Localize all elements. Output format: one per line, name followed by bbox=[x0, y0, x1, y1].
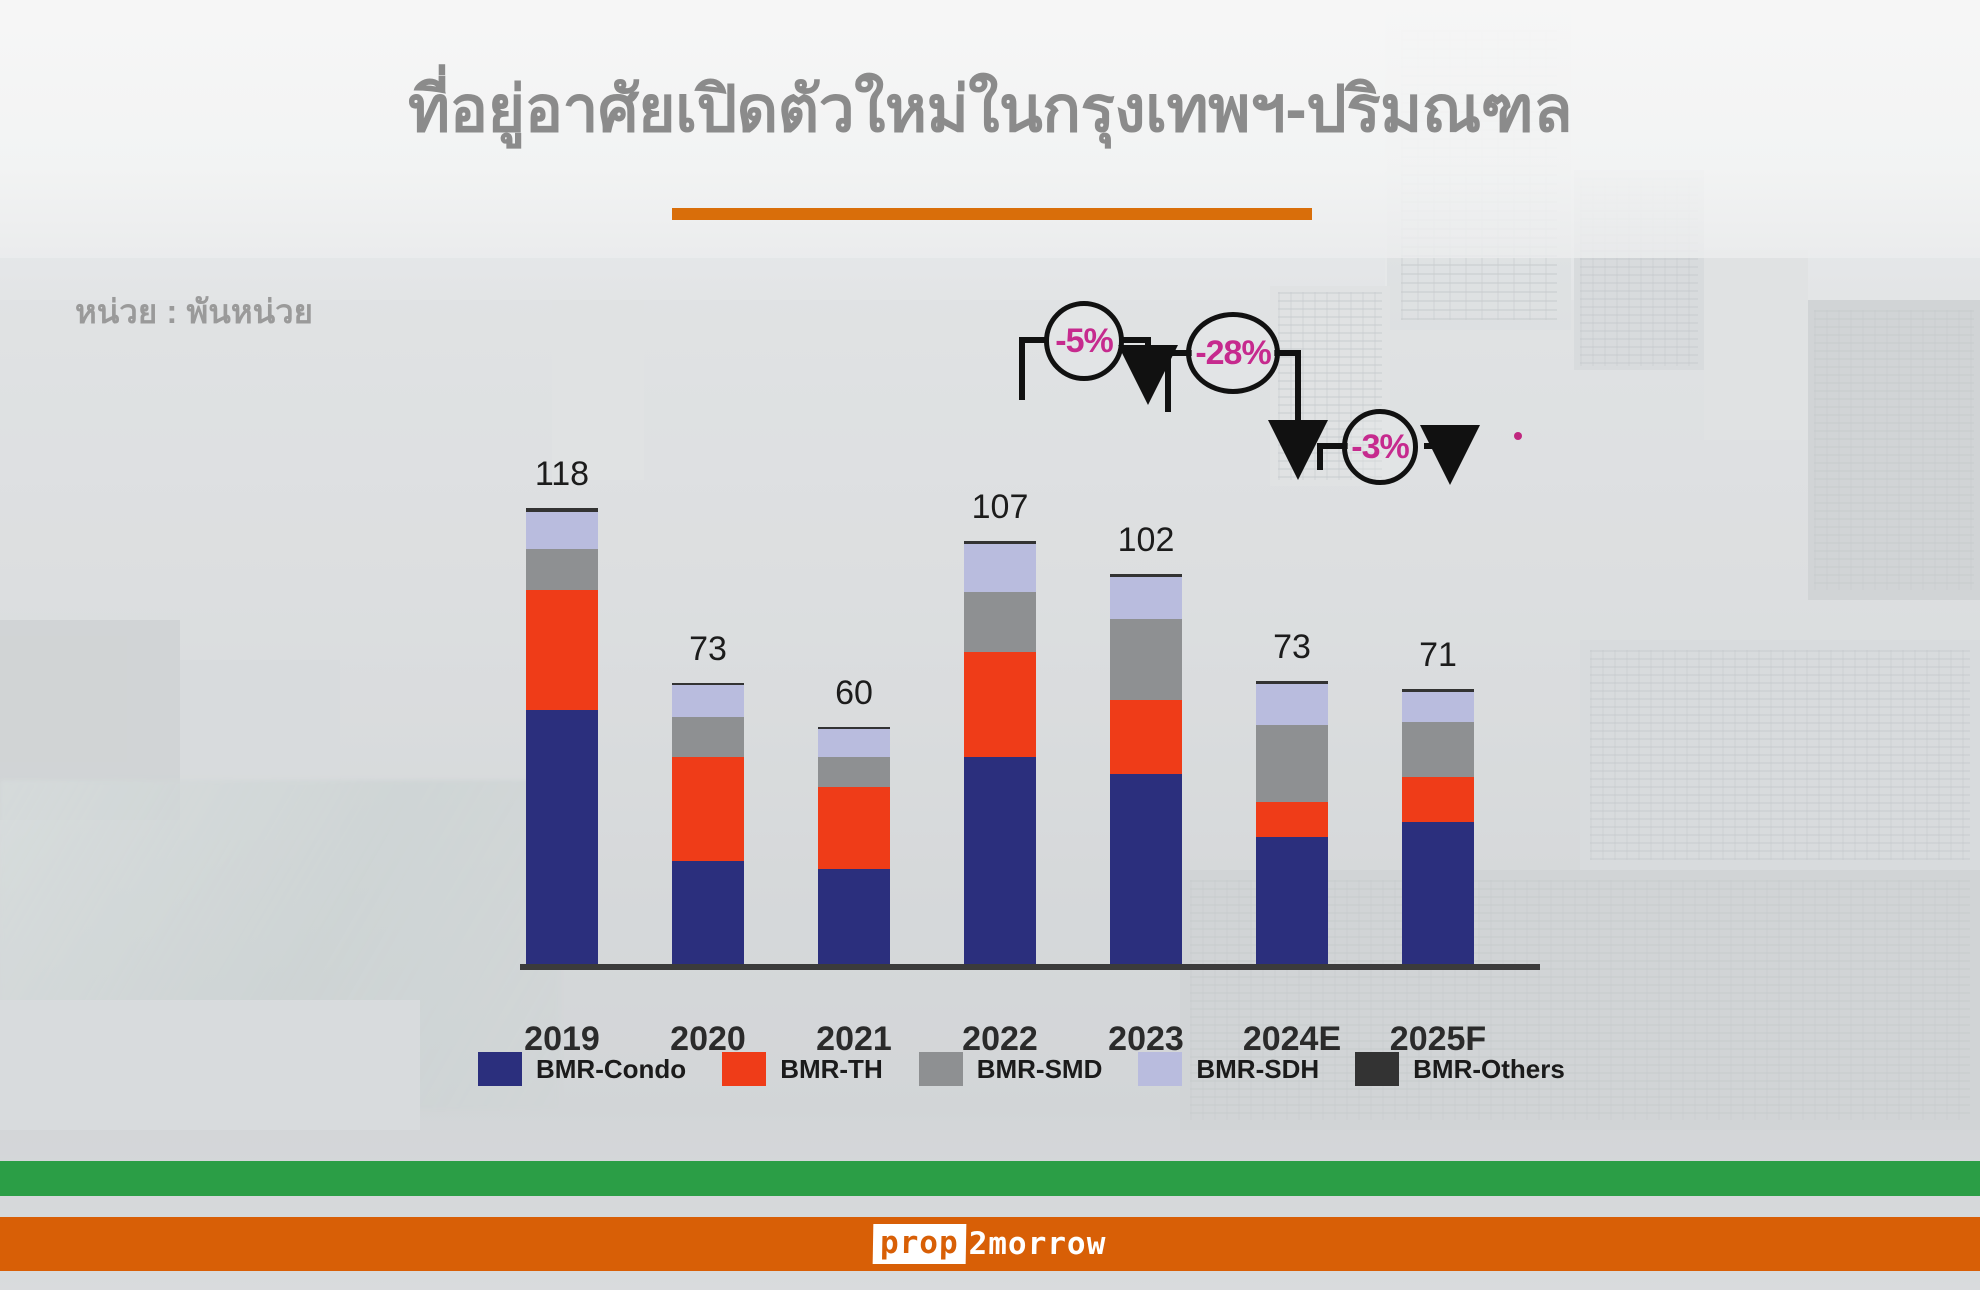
title-underline-rule bbox=[672, 208, 1312, 220]
bar-segment-bmr-smd bbox=[818, 757, 890, 787]
bar-segment-bmr-th bbox=[526, 590, 598, 710]
bar-total-label-2024E: 73 bbox=[1273, 628, 1311, 667]
legend-label: BMR-Condo bbox=[536, 1054, 686, 1085]
legend-swatch-icon bbox=[1138, 1052, 1182, 1086]
chart-plot-area: 11873601071027371 bbox=[520, 384, 1540, 964]
legend-label: BMR-SMD bbox=[977, 1054, 1103, 1085]
bar-segment-bmr-sdh bbox=[1256, 684, 1328, 725]
legend-swatch-icon bbox=[919, 1052, 963, 1086]
bar-segment-bmr-condo bbox=[1110, 774, 1182, 964]
bar-segment-bmr-condo bbox=[672, 861, 744, 964]
bar-segment-bmr-condo bbox=[1256, 837, 1328, 964]
legend-label: BMR-TH bbox=[780, 1054, 883, 1085]
bar-segment-bmr-th bbox=[1256, 802, 1328, 837]
bar-segment-bmr-smd bbox=[526, 549, 598, 590]
bar-segment-bmr-th bbox=[818, 787, 890, 869]
bar-segment-bmr-sdh bbox=[1402, 692, 1474, 722]
bar-segment-bmr-condo bbox=[964, 757, 1036, 964]
bar-total-label-2023: 102 bbox=[1118, 521, 1175, 560]
x-axis-tick-labels: 201920202021202220232024E2025F bbox=[520, 976, 1540, 1026]
legend-swatch-icon bbox=[478, 1052, 522, 1086]
bar-segment-bmr-smd bbox=[1110, 619, 1182, 700]
legend-swatch-icon bbox=[1355, 1052, 1399, 1086]
legend-item-bmr-sdh[interactable]: BMR-SDH bbox=[1138, 1052, 1319, 1086]
bar-segment-bmr-th bbox=[1110, 700, 1182, 774]
x-axis-line bbox=[520, 964, 1540, 970]
bar-2020: 73 bbox=[672, 683, 744, 964]
legend-label: BMR-SDH bbox=[1196, 1054, 1319, 1085]
bar-2024E: 73 bbox=[1256, 681, 1328, 964]
legend-item-bmr-condo[interactable]: BMR-Condo bbox=[478, 1052, 686, 1086]
bar-segment-bmr-sdh bbox=[964, 544, 1036, 592]
footer-green-band bbox=[0, 1161, 1980, 1196]
bar-segment-bmr-smd bbox=[964, 592, 1036, 652]
slide-canvas: ที่อยู่อาศัยเปิดตัวใหม่ในกรุงเทพฯ-ปริมณฑ… bbox=[0, 0, 1980, 1290]
bar-segment-bmr-condo bbox=[818, 869, 890, 964]
bar-segment-bmr-sdh bbox=[526, 512, 598, 549]
bar-segment-bmr-th bbox=[964, 652, 1036, 757]
page-title: ที่อยู่อาศัยเปิดตัวใหม่ในกรุงเทพฯ-ปริมณฑ… bbox=[0, 58, 1980, 160]
bar-2025F: 71 bbox=[1402, 689, 1474, 964]
bar-segment-bmr-condo bbox=[526, 710, 598, 964]
prop2morrow-logo: prop 2morrow bbox=[0, 1217, 1980, 1271]
bar-segment-bmr-smd bbox=[1256, 725, 1328, 802]
bar-segment-bmr-sdh bbox=[818, 729, 890, 757]
chart-legend: BMR-CondoBMR-THBMR-SMDBMR-SDHBMR-Others bbox=[478, 1052, 1601, 1086]
legend-item-bmr-others[interactable]: BMR-Others bbox=[1355, 1052, 1565, 1086]
bar-segment-bmr-condo bbox=[1402, 822, 1474, 964]
bar-2021: 60 bbox=[818, 727, 890, 964]
bar-2022: 107 bbox=[964, 541, 1036, 964]
bar-total-label-2020: 73 bbox=[689, 630, 727, 669]
bar-total-label-2021: 60 bbox=[835, 674, 873, 713]
unit-note: หน่วย : พันหน่วย bbox=[75, 285, 313, 338]
bar-segment-bmr-sdh bbox=[672, 685, 744, 717]
bar-2019: 118 bbox=[526, 508, 598, 964]
logo-box-text: prop bbox=[873, 1224, 966, 1264]
bar-segment-bmr-smd bbox=[672, 717, 744, 757]
bar-total-label-2025F: 71 bbox=[1419, 636, 1457, 675]
legend-item-bmr-th[interactable]: BMR-TH bbox=[722, 1052, 883, 1086]
stacked-bar-chart: 11873601071027371 2019202020212022202320… bbox=[420, 330, 1600, 970]
bar-total-label-2019: 118 bbox=[535, 455, 589, 494]
bar-total-label-2022: 107 bbox=[972, 488, 1029, 527]
legend-item-bmr-smd[interactable]: BMR-SMD bbox=[919, 1052, 1103, 1086]
logo-rest-text: 2morrow bbox=[966, 1226, 1107, 1262]
bar-segment-bmr-th bbox=[1402, 777, 1474, 822]
legend-label: BMR-Others bbox=[1413, 1054, 1565, 1085]
bar-segment-bmr-sdh bbox=[1110, 577, 1182, 619]
bar-2023: 102 bbox=[1110, 574, 1182, 964]
bar-segment-bmr-th bbox=[672, 757, 744, 861]
legend-swatch-icon bbox=[722, 1052, 766, 1086]
bar-segment-bmr-smd bbox=[1402, 722, 1474, 777]
